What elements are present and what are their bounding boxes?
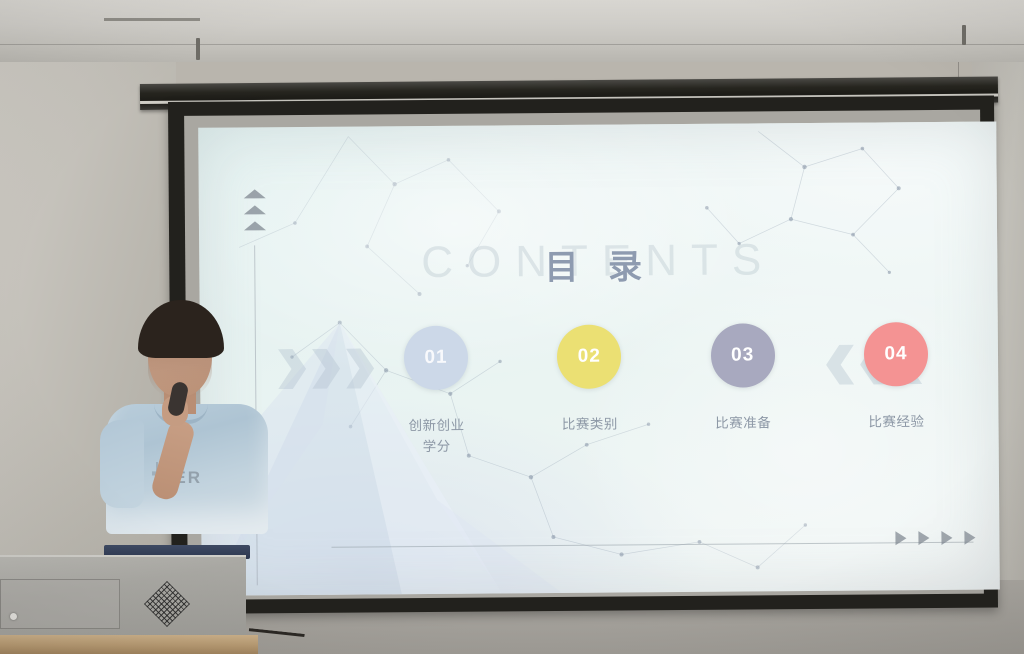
item-number-bubble-01: 01 <box>404 326 469 391</box>
podium-inset-panel <box>0 579 120 629</box>
up-triangle-icon <box>244 221 266 230</box>
triangle-right-icon <box>964 531 975 545</box>
item-number-bubble-02: 02 <box>557 324 622 389</box>
triangle-right-icon <box>918 531 929 545</box>
item-label-04: 比赛经验 <box>846 412 946 434</box>
triangle-right-icon <box>895 531 906 545</box>
podium-wood-trim <box>0 635 258 654</box>
item-label-01: 创新创业 学分 <box>386 416 486 459</box>
podium-front-panel <box>0 555 246 637</box>
bottom-triangle-decoration <box>895 531 975 546</box>
up-triangle-icon <box>244 205 266 214</box>
slide-bottom-rule <box>331 542 973 548</box>
screen-mount-bracket-right <box>962 25 966 45</box>
slide-title: 目 录 <box>199 236 997 291</box>
contents-items-row: 01 创新创业 学分 02 比赛类别 03 比赛准备 04 比赛经验 <box>386 322 947 458</box>
speaker-grille-icon <box>144 581 190 627</box>
screen-mount-bracket-left <box>196 38 200 60</box>
projector-screen-frame: CONTENTS 目 录 01 创新创业 学分 <box>168 96 998 614</box>
presenter-hair <box>138 300 224 358</box>
contents-item-03: 03 比赛准备 <box>692 323 793 456</box>
podium <box>0 545 262 654</box>
chevron-right-icon <box>346 348 374 388</box>
slide-title-block: CONTENTS 目 录 <box>199 225 998 301</box>
item-number-bubble-04: 04 <box>864 322 929 387</box>
presentation-slide: CONTENTS 目 录 01 创新创业 学分 <box>198 121 1000 595</box>
left-up-triangle-decoration <box>243 189 267 237</box>
ceiling-mount-bar <box>104 18 200 21</box>
ceiling-molding-line <box>0 44 1024 45</box>
contents-item-04: 04 比赛经验 <box>846 322 947 455</box>
item-label-02: 比赛类别 <box>540 414 640 436</box>
up-triangle-icon <box>244 189 266 198</box>
item-label-03: 比赛准备 <box>693 413 793 435</box>
podium-knob <box>10 613 17 620</box>
item-number-bubble-03: 03 <box>710 323 775 388</box>
contents-item-01: 01 创新创业 学分 <box>386 326 487 459</box>
left-chevron-decoration <box>278 348 374 389</box>
chevron-right-icon <box>312 349 340 389</box>
presenter-left-sleeve <box>100 420 144 508</box>
ceiling <box>0 0 1024 62</box>
contents-item-02: 02 比赛类别 <box>539 324 640 457</box>
classroom-scene: CONTENTS 目 录 01 创新创业 学分 <box>0 0 1024 654</box>
triangle-right-icon <box>941 531 952 545</box>
